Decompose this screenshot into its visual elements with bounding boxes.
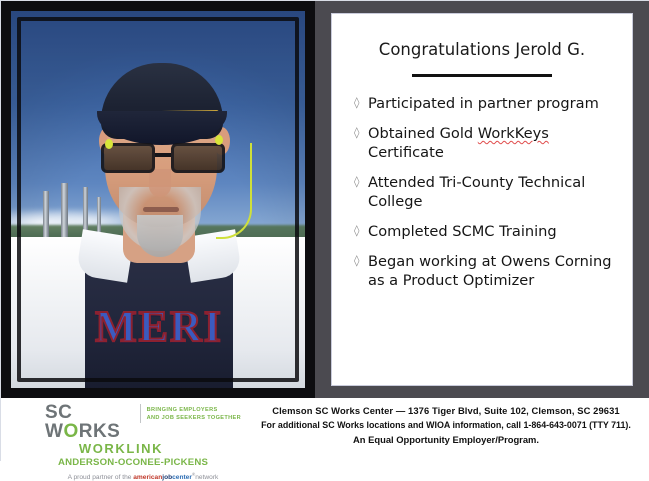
ajc-job: job — [162, 474, 172, 481]
flyer-poster: MERI Congratulations Jerold G. ◊ — [0, 0, 649, 461]
diamond-bullet-icon: ◊ — [354, 96, 359, 110]
logo-tagline-line1: BRINGING EMPLOYERS — [147, 406, 241, 414]
list-item-label-pre: Obtained Gold — [368, 125, 478, 142]
logo-tagline-line2: AND JOB SEEKERS TOGETHER — [147, 414, 241, 422]
achievements-card: Congratulations Jerold G. ◊ Participated… — [331, 13, 633, 386]
list-item-label: Completed SCMC Training — [368, 223, 557, 240]
partner-prefix: A proud partner of the — [68, 474, 134, 481]
logo-wordmark-o: O — [63, 421, 78, 442]
logo-tagline: BRINGING EMPLOYERS AND JOB SEEKERS TOGET… — [147, 403, 241, 423]
diamond-bullet-icon: ◊ — [354, 175, 359, 189]
logo-region: ANDERSON-OCONEE-PICKENS — [45, 457, 221, 469]
title-divider — [412, 74, 552, 77]
logo-wordmark: SC WORKS — [45, 403, 133, 441]
list-item: ◊ Began working at Owens Corning as a Pr… — [354, 253, 618, 291]
diamond-bullet-icon: ◊ — [354, 224, 359, 238]
contact-info: Clemson SC Works Center — 1376 Tiger Blv… — [251, 404, 641, 447]
glasses-bridge — [155, 153, 171, 157]
participant-photo: MERI — [1, 1, 315, 398]
logo-wordmark-post: RKS — [79, 421, 121, 442]
ajc-american: american — [133, 474, 162, 481]
footer: SC WORKS BRINGING EMPLOYERS AND JOB SEEK… — [1, 398, 649, 461]
list-item-label: Began working at Owens Corning as a Prod… — [368, 253, 611, 289]
sc-works-logo: SC WORKS BRINGING EMPLOYERS AND JOB SEEK… — [45, 403, 241, 481]
page-title: Congratulations Jerold G. — [332, 40, 632, 59]
diamond-bullet-icon: ◊ — [354, 254, 359, 268]
safety-glasses-icon — [101, 143, 225, 173]
tshirt-text: MERI — [85, 301, 233, 352]
contact-phone: For additional SC Works locations and WI… — [251, 419, 641, 433]
contact-address: Clemson SC Works Center — 1376 Tiger Blv… — [251, 404, 641, 419]
mouth — [143, 207, 179, 212]
nose — [149, 169, 171, 197]
logo-worklink: WORKLINK — [45, 442, 197, 456]
achievements-list: ◊ Participated in partner program ◊ Obta… — [332, 95, 632, 291]
earplug-left — [105, 139, 113, 149]
list-item: ◊ Participated in partner program — [354, 95, 618, 114]
list-item: ◊ Attended Tri-County Technical College — [354, 174, 618, 212]
list-item: ◊ Obtained Gold WorkKeys Certificate — [354, 125, 618, 163]
list-item-label: Attended Tri-County Technical College — [368, 174, 585, 210]
partner-suffix: network — [195, 474, 218, 481]
earplug-right — [215, 135, 223, 145]
list-item: ◊ Completed SCMC Training — [354, 223, 618, 242]
american-job-center-line: A proud partner of the americanjobcenter… — [45, 472, 241, 481]
eeo-statement: An Equal Opportunity Employer/Program. — [251, 432, 641, 447]
diamond-bullet-icon: ◊ — [354, 126, 359, 140]
logo-divider — [140, 404, 141, 423]
list-item-label-post: Certificate — [368, 144, 444, 161]
ajc-center: center — [172, 474, 192, 481]
misspelled-word: WorkKeys — [478, 125, 549, 142]
earplug-cord — [216, 143, 252, 239]
list-item-label: Participated in partner program — [368, 95, 599, 112]
logo-top-row: SC WORKS BRINGING EMPLOYERS AND JOB SEEK… — [45, 403, 241, 441]
